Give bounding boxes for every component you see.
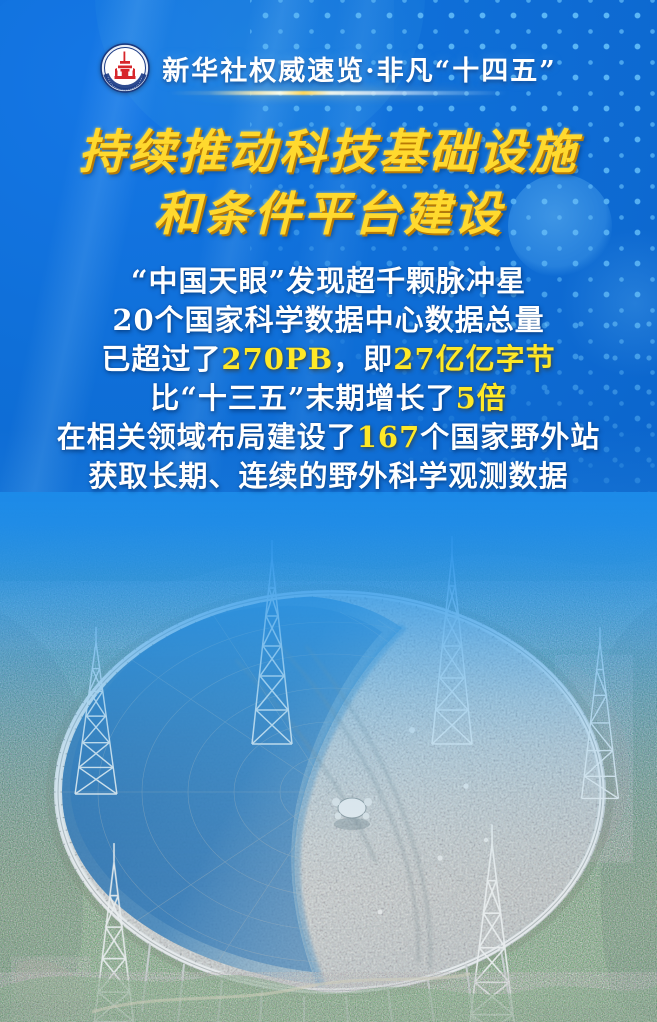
body-line-3: 已超过了270PB，即27亿亿字节: [0, 340, 657, 379]
title-line-2: 和条件平台建设: [0, 184, 657, 246]
body-highlight-5-2: 167: [357, 420, 421, 454]
body-text-3-1: 已超过了: [101, 342, 221, 376]
body-highlight-4-2: 5倍: [456, 381, 507, 415]
body-line-5: 在相关领域布局建设了167个国家野外站: [0, 418, 657, 457]
body-highlight-3-2: 270PB: [221, 342, 333, 376]
body-text-1-1: “中国天眼”发现超千颗脉冲星: [131, 264, 526, 298]
body-text-4-1: 比“十三五”末期增长了: [150, 381, 455, 415]
body-line-1: “中国天眼”发现超千颗脉冲星: [0, 262, 657, 301]
body-line-4: 比“十三五”末期增长了5倍: [0, 379, 657, 418]
feed-cabin: [332, 798, 372, 830]
title-line-1: 持续推动科技基础设施: [0, 122, 657, 184]
poster-header: 新华社权威速览·非凡“十四五”: [0, 42, 657, 94]
body-line-6: 获取长期、连续的野外科学观测数据: [0, 457, 657, 496]
body-text-5-3: 个国家野外站: [420, 420, 600, 454]
body-text-5-1: 在相关领域布局建设了: [57, 420, 357, 454]
body-text-3-3: ，即: [333, 342, 393, 376]
body-text-2-1: 20个国家科学数据中心数据总量: [112, 303, 544, 337]
header-divider: [168, 91, 507, 95]
fast-telescope-photo: [0, 492, 657, 1022]
body-line-2: 20个国家科学数据中心数据总量: [0, 301, 657, 340]
poster-root: 新华社权威速览·非凡“十四五” 持续推动科技基础设施 和条件平台建设 “中国天眼…: [0, 0, 657, 1022]
xinhua-news-agency-logo-icon: [100, 43, 150, 93]
body-highlight-3-4: 27亿亿字节: [393, 342, 555, 376]
fast-telescope-illustration: [0, 492, 657, 1022]
poster-title: 持续推动科技基础设施 和条件平台建设: [0, 122, 657, 246]
body-text-6-1: 获取长期、连续的野外科学观测数据: [88, 459, 568, 493]
poster-body-text: “中国天眼”发现超千颗脉冲星20个国家科学数据中心数据总量已超过了270PB，即…: [0, 262, 657, 496]
header-title: 新华社权威速览·非凡“十四五”: [162, 49, 556, 88]
